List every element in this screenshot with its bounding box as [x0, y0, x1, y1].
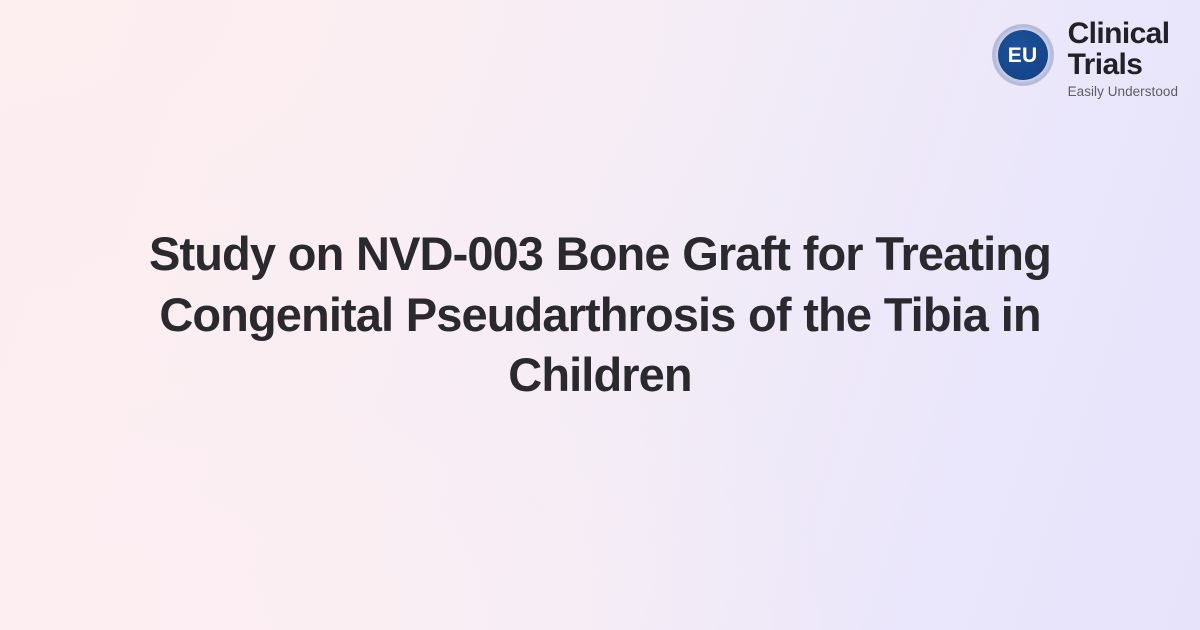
eu-badge-label: EU: [1008, 45, 1038, 66]
eu-clinical-trials-logo[interactable]: EU Clinical Trials Easily Understood: [992, 18, 1178, 101]
brand-tagline: Easily Understood: [1068, 84, 1178, 100]
eu-badge-icon: EU: [992, 24, 1054, 86]
brand-wordmark: Clinical Trials Easily Understood: [1068, 18, 1178, 101]
brand-name-line-1: Clinical: [1068, 18, 1170, 49]
study-title: Study on NVD-003 Bone Graft for Treating…: [120, 224, 1080, 406]
brand-name-line-2: Trials: [1068, 49, 1143, 80]
study-share-card: EU Clinical Trials Easily Understood Stu…: [0, 0, 1200, 630]
eu-badge-disc: EU: [998, 30, 1048, 80]
